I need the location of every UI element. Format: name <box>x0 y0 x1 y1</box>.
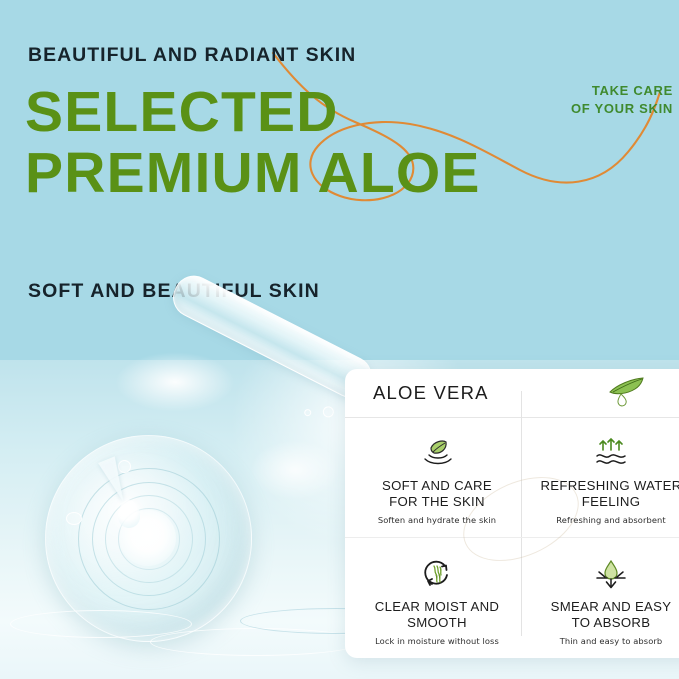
leaf-ripple-icon <box>420 435 454 469</box>
feature-item: SMEAR AND EASY TO ABSORB Thin and easy t… <box>521 539 679 659</box>
hero-headline: SELECTED PREMIUM ALOE <box>25 82 481 204</box>
hero-banner: BEAUTIFUL AND RADIANT SKIN SELECTED PREM… <box>0 0 679 372</box>
feature-item: REFRESHING WATER FEELING Refreshing and … <box>521 418 679 539</box>
aloe-leaf-drop-icon <box>605 375 645 411</box>
feature-grid: SOFT AND CARE FOR THE SKIN Soften and hy… <box>345 418 679 658</box>
photo-glow <box>115 352 235 412</box>
bubble-icon <box>321 404 336 419</box>
moisture-cycle-icon <box>421 556 453 590</box>
feature-subtitle: Soften and hydrate the skin <box>378 515 496 525</box>
feature-subtitle: Lock in moisture without loss <box>375 636 499 646</box>
bubble-icon <box>303 408 312 417</box>
feature-title: SMEAR AND EASY TO ABSORB <box>551 599 672 631</box>
take-care-line-1: TAKE CARE <box>548 82 673 100</box>
feature-title: CLEAR MOIST AND SMOOTH <box>375 599 499 631</box>
feature-subtitle: Refreshing and absorbent <box>556 515 666 525</box>
headline-line-1: SELECTED <box>25 80 339 144</box>
headline-line-2: PREMIUM ALOE <box>25 143 481 204</box>
hero-eyebrow: BEAUTIFUL AND RADIANT SKIN <box>28 44 356 67</box>
card-title: ALOE VERA <box>373 382 489 404</box>
feature-title: REFRESHING WATER FEELING <box>540 478 679 510</box>
water-waves-arrows-icon <box>593 435 629 469</box>
absorb-droplet-icon <box>593 556 629 590</box>
feature-subtitle: Thin and easy to absorb <box>560 636 663 646</box>
product-poster: BEAUTIFUL AND RADIANT SKIN SELECTED PREM… <box>0 0 679 679</box>
feature-title: SOFT AND CARE FOR THE SKIN <box>382 478 492 510</box>
feature-card: ALOE VERA S <box>345 369 679 658</box>
feature-item: SOFT AND CARE FOR THE SKIN Soften and hy… <box>345 418 521 539</box>
card-header: ALOE VERA <box>345 369 679 418</box>
take-care-badge: TAKE CARE OF YOUR SKIN <box>548 82 673 118</box>
bubble-icon <box>66 512 82 525</box>
feature-item: CLEAR MOIST AND SMOOTH Lock in moisture … <box>345 539 521 659</box>
take-care-line-2: OF YOUR SKIN <box>548 100 673 118</box>
photo-glow-secondary <box>250 440 340 500</box>
water-droplet-icon <box>118 500 140 528</box>
